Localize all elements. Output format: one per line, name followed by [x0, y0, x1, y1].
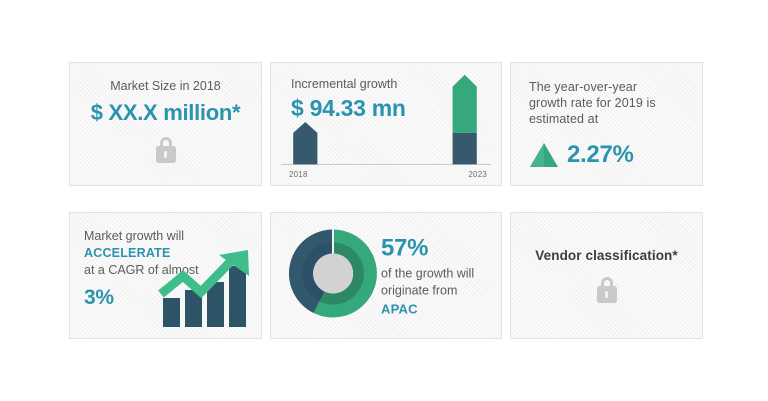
incremental-growth-label: Incremental growth: [291, 77, 501, 91]
card-cagr: Market growth will ACCELERATE at a CAGR …: [69, 212, 262, 339]
yoy-line-3: estimated at: [529, 111, 702, 127]
apac-donut-chart: [287, 227, 379, 324]
card-incremental-growth: Incremental growth $ 94.33 mn 2018 2023: [270, 62, 502, 186]
donut-svg: [287, 227, 379, 319]
apac-text-block: 57% of the growth will originate from AP…: [381, 235, 501, 316]
cagr-line-1: Market growth will: [84, 229, 261, 243]
apac-line-2: originate from: [381, 282, 501, 299]
lock-keyhole: [605, 291, 608, 298]
card-market-size-body: Market Size in 2018 $ XX.X million*: [70, 63, 261, 185]
donut-hub: [313, 253, 353, 293]
apac-region: APAC: [381, 301, 501, 316]
vendor-classification-title: Vendor classification*: [535, 248, 678, 263]
apac-percent: 57%: [381, 235, 501, 261]
yoy-line-2: growth rate for 2019 is: [529, 95, 702, 111]
infographic-grid: Market Size in 2018 $ XX.X million* Incr…: [69, 62, 703, 339]
card-apac-share: 57% of the growth will originate from AP…: [270, 212, 502, 339]
yoy-line-1: The year-over-year: [529, 79, 702, 95]
growth-bars-arrow-icon: [157, 246, 253, 330]
card-market-size: Market Size in 2018 $ XX.X million*: [69, 62, 262, 186]
market-size-value: $ XX.X million*: [70, 100, 261, 126]
x-tick-2018: 2018: [289, 170, 308, 179]
incremental-growth-value: $ 94.33 mn: [291, 95, 501, 122]
card-yoy-growth: The year-over-year growth rate for 2019 …: [510, 62, 703, 186]
apac-line-1: of the growth will: [381, 265, 501, 282]
up-triangle-icon: [529, 142, 559, 168]
market-size-label: Market Size in 2018: [70, 79, 261, 93]
x-tick-2023: 2023: [468, 170, 487, 179]
lock-icon: [597, 277, 617, 303]
lock-icon: [156, 137, 176, 163]
yoy-value-row: 2.27%: [529, 141, 634, 169]
card-incremental-growth-body: Incremental growth $ 94.33 mn: [271, 63, 501, 185]
yoy-value: 2.27%: [567, 141, 634, 169]
card-vendor-body: Vendor classification*: [511, 213, 702, 338]
card-vendor-classification: Vendor classification*: [510, 212, 703, 339]
lock-keyhole: [164, 151, 167, 158]
